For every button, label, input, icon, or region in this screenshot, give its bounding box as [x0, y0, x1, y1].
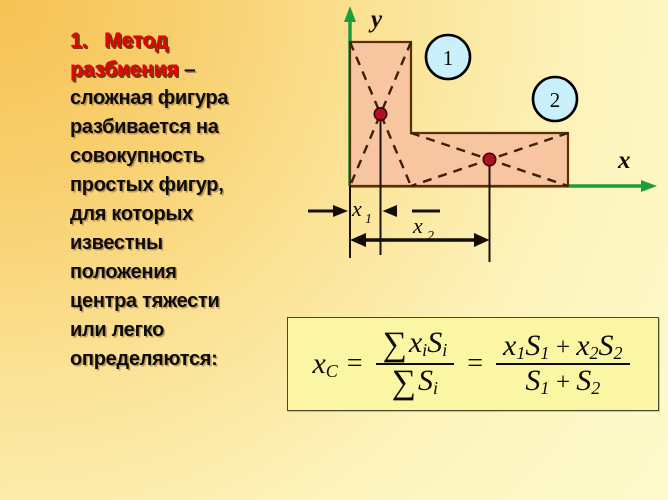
body-line: разбивается на: [70, 113, 285, 142]
body-line: простых фигур,: [70, 171, 285, 200]
heading-number: 1.: [70, 29, 87, 52]
heading-dash: –: [184, 58, 195, 81]
body-line: определяются:: [70, 345, 285, 374]
centroid-1-dot: [374, 108, 386, 120]
heading-block: 1. Метод разбиения –: [70, 26, 285, 84]
svg-text:x: x: [351, 196, 362, 221]
callout-circle-2[interactable]: 2: [533, 77, 577, 121]
svg-text:2: 2: [427, 229, 434, 244]
formula-box: xC = ∑xiSi ∑Si = x1S1+x2S2 S1+S2: [287, 317, 659, 411]
axis-x-label: x: [617, 147, 631, 174]
heading-line-1: Метод: [104, 29, 168, 52]
fraction-numerator: ∑xiSi: [376, 327, 455, 363]
fraction-denominator: S1+S2: [518, 365, 607, 398]
text-column: 1. Метод разбиения – сложная фигура разб…: [70, 26, 285, 374]
callout-circle-1[interactable]: 1: [426, 35, 470, 79]
centroid-2-dot: [483, 153, 495, 165]
centroid-formula: xC = ∑xiSi ∑Si = x1S1+x2S2 S1+S2: [312, 327, 633, 402]
slide-canvas: 1. Метод разбиения – сложная фигура разб…: [0, 0, 668, 500]
svg-text:1: 1: [365, 212, 372, 227]
fraction-numerator: x1S1+x2S2: [496, 330, 630, 363]
equals-sign-2: =: [467, 348, 483, 380]
equals-sign-1: =: [347, 348, 363, 380]
body-line: совокупность: [70, 142, 285, 171]
body-paragraph: сложная фигура разбивается на совокупнос…: [70, 84, 285, 374]
fraction-sum-general: ∑xiSi ∑Si: [376, 327, 455, 402]
dimension-x1-label: x 1: [351, 196, 372, 227]
body-line: положения: [70, 258, 285, 287]
body-line: для которых: [70, 200, 285, 229]
svg-text:x: x: [412, 213, 423, 238]
centroid-diagram: y x x 1 x 2 1 2: [300, 0, 668, 270]
body-line: известны: [70, 229, 285, 258]
body-line: сложная фигура: [70, 84, 285, 113]
formula-lhs: xC: [312, 349, 337, 380]
heading-line-2: разбиения: [70, 58, 178, 81]
svg-text:2: 2: [550, 88, 561, 112]
body-line: центра тяжести: [70, 287, 285, 316]
axis-y-label: y: [368, 6, 383, 33]
svg-text:1: 1: [443, 46, 454, 70]
fraction-sum-expanded: x1S1+x2S2 S1+S2: [496, 330, 630, 399]
body-line: или легко: [70, 316, 285, 345]
fraction-denominator: ∑Si: [385, 365, 445, 401]
